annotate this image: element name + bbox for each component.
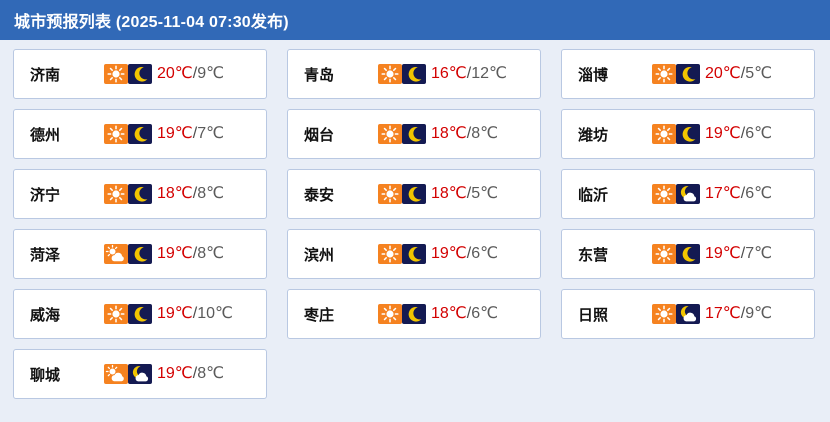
city-forecast-card[interactable]: 聊城19℃/8℃	[13, 349, 267, 399]
partly-cloudy-night-icon	[128, 364, 152, 384]
high-temperature: 18℃	[431, 185, 467, 202]
city-forecast-card[interactable]: 潍坊19℃/6℃	[561, 109, 815, 159]
temperature-range: 19℃/6℃	[705, 126, 772, 142]
city-forecast-card[interactable]: 淄博20℃/5℃	[561, 49, 815, 99]
temperature-range: 19℃/6℃	[431, 246, 498, 262]
city-forecast-card[interactable]: 日照17℃/9℃	[561, 289, 815, 339]
sunny-icon	[378, 304, 402, 324]
low-temperature: 6℃	[745, 185, 772, 202]
clear-night-icon	[402, 244, 426, 264]
low-temperature: 9℃	[197, 65, 224, 82]
city-forecast-grid: 济南20℃/9℃青岛16℃/12℃淄博20℃/5℃德州19℃/7℃烟台18℃/8…	[0, 40, 830, 409]
clear-night-icon	[128, 124, 152, 144]
city-forecast-card[interactable]: 青岛16℃/12℃	[287, 49, 541, 99]
weather-icons	[652, 64, 700, 84]
city-forecast-card[interactable]: 泰安18℃/5℃	[287, 169, 541, 219]
sunny-icon	[652, 244, 676, 264]
page-header: 城市预报列表 (2025-11-04 07:30发布)	[0, 0, 830, 40]
high-temperature: 18℃	[157, 185, 193, 202]
sunny-icon	[378, 64, 402, 84]
temperature-range: 18℃/5℃	[431, 186, 498, 202]
city-name: 济宁	[30, 184, 104, 205]
weather-icons	[652, 304, 700, 324]
temperature-range: 19℃/7℃	[705, 246, 772, 262]
weather-icons	[652, 184, 700, 204]
clear-night-icon	[128, 244, 152, 264]
city-name: 聊城	[30, 364, 104, 385]
sunny-icon	[652, 304, 676, 324]
clear-night-icon	[128, 304, 152, 324]
weather-icons	[378, 184, 426, 204]
high-temperature: 19℃	[431, 245, 467, 262]
weather-icons	[104, 244, 152, 264]
sunny-icon	[652, 184, 676, 204]
city-forecast-card[interactable]: 临沂17℃/6℃	[561, 169, 815, 219]
city-name: 烟台	[304, 124, 378, 145]
sunny-icon	[378, 184, 402, 204]
weather-icons	[104, 184, 152, 204]
city-forecast-card[interactable]: 德州19℃/7℃	[13, 109, 267, 159]
clear-night-icon	[676, 244, 700, 264]
high-temperature: 17℃	[705, 305, 741, 322]
city-forecast-card[interactable]: 枣庄18℃/6℃	[287, 289, 541, 339]
low-temperature: 8℃	[197, 245, 224, 262]
low-temperature: 7℃	[745, 245, 772, 262]
sunny-icon	[652, 124, 676, 144]
city-name: 德州	[30, 124, 104, 145]
clear-night-icon	[402, 304, 426, 324]
city-name: 滨州	[304, 244, 378, 265]
high-temperature: 19℃	[157, 125, 193, 142]
low-temperature: 12℃	[471, 65, 507, 82]
low-temperature: 9℃	[745, 305, 772, 322]
city-name: 潍坊	[578, 124, 652, 145]
high-temperature: 16℃	[431, 65, 467, 82]
city-name: 枣庄	[304, 304, 378, 325]
city-name: 东营	[578, 244, 652, 265]
city-name: 泰安	[304, 184, 378, 205]
temperature-range: 16℃/12℃	[431, 66, 507, 82]
weather-icons	[652, 124, 700, 144]
city-name: 日照	[578, 304, 652, 325]
low-temperature: 6℃	[471, 245, 498, 262]
city-name: 淄博	[578, 64, 652, 85]
page-title: 城市预报列表 (2025-11-04 07:30发布)	[14, 8, 289, 32]
high-temperature: 19℃	[157, 365, 193, 382]
sunny-icon	[104, 124, 128, 144]
city-forecast-card[interactable]: 济南20℃/9℃	[13, 49, 267, 99]
partly-cloudy-night-icon	[676, 184, 700, 204]
temperature-range: 17℃/9℃	[705, 306, 772, 322]
temperature-range: 19℃/10℃	[157, 306, 233, 322]
city-forecast-card[interactable]: 烟台18℃/8℃	[287, 109, 541, 159]
weather-icons	[378, 304, 426, 324]
low-temperature: 8℃	[471, 125, 498, 142]
city-forecast-card[interactable]: 菏泽19℃/8℃	[13, 229, 267, 279]
sunny-icon	[104, 64, 128, 84]
weather-icons	[652, 244, 700, 264]
high-temperature: 18℃	[431, 305, 467, 322]
weather-icons	[104, 304, 152, 324]
high-temperature: 17℃	[705, 185, 741, 202]
high-temperature: 18℃	[431, 125, 467, 142]
high-temperature: 19℃	[157, 305, 193, 322]
city-name: 济南	[30, 64, 104, 85]
low-temperature: 5℃	[745, 65, 772, 82]
temperature-range: 19℃/7℃	[157, 126, 224, 142]
temperature-range: 20℃/9℃	[157, 66, 224, 82]
weather-icons	[378, 64, 426, 84]
temperature-range: 19℃/8℃	[157, 366, 224, 382]
temperature-range: 18℃/8℃	[157, 186, 224, 202]
clear-night-icon	[676, 64, 700, 84]
city-name: 临沂	[578, 184, 652, 205]
high-temperature: 19℃	[705, 245, 741, 262]
sunny-icon	[652, 64, 676, 84]
low-temperature: 5℃	[471, 185, 498, 202]
sunny-icon	[104, 184, 128, 204]
city-forecast-card[interactable]: 东营19℃/7℃	[561, 229, 815, 279]
weather-icons	[378, 124, 426, 144]
city-forecast-card[interactable]: 威海19℃/10℃	[13, 289, 267, 339]
low-temperature: 7℃	[197, 125, 224, 142]
city-name: 菏泽	[30, 244, 104, 265]
clear-night-icon	[128, 64, 152, 84]
temperature-range: 18℃/8℃	[431, 126, 498, 142]
clear-night-icon	[128, 184, 152, 204]
temperature-range: 19℃/8℃	[157, 246, 224, 262]
city-forecast-card[interactable]: 济宁18℃/8℃	[13, 169, 267, 219]
clear-night-icon	[402, 124, 426, 144]
high-temperature: 19℃	[705, 125, 741, 142]
city-name: 青岛	[304, 64, 378, 85]
clear-night-icon	[402, 64, 426, 84]
partly-cloudy-day-icon	[104, 244, 128, 264]
city-forecast-card[interactable]: 滨州19℃/6℃	[287, 229, 541, 279]
high-temperature: 20℃	[705, 65, 741, 82]
low-temperature: 6℃	[745, 125, 772, 142]
temperature-range: 18℃/6℃	[431, 306, 498, 322]
partly-cloudy-day-icon	[104, 364, 128, 384]
low-temperature: 8℃	[197, 365, 224, 382]
weather-icons	[104, 364, 152, 384]
partly-cloudy-night-icon	[676, 304, 700, 324]
weather-icons	[378, 244, 426, 264]
high-temperature: 20℃	[157, 65, 193, 82]
weather-icons	[104, 124, 152, 144]
weather-icons	[104, 64, 152, 84]
high-temperature: 19℃	[157, 245, 193, 262]
low-temperature: 8℃	[197, 185, 224, 202]
clear-night-icon	[676, 124, 700, 144]
temperature-range: 20℃/5℃	[705, 66, 772, 82]
sunny-icon	[104, 304, 128, 324]
low-temperature: 6℃	[471, 305, 498, 322]
low-temperature: 10℃	[197, 305, 233, 322]
city-name: 威海	[30, 304, 104, 325]
clear-night-icon	[402, 184, 426, 204]
temperature-range: 17℃/6℃	[705, 186, 772, 202]
sunny-icon	[378, 124, 402, 144]
sunny-icon	[378, 244, 402, 264]
